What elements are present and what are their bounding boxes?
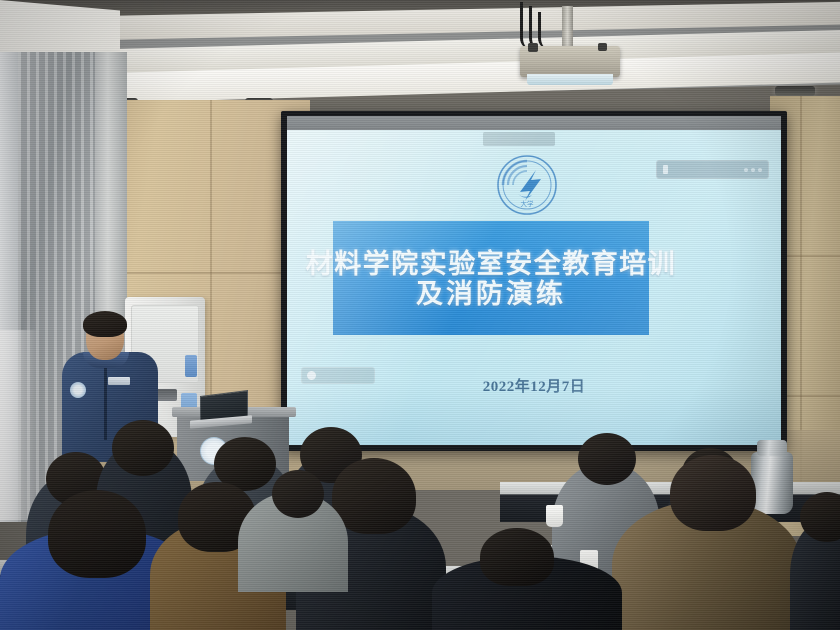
audience-head-f4 <box>272 470 324 518</box>
air-conditioner-indicator <box>185 355 197 377</box>
window-daylight-glow <box>0 330 40 520</box>
projector-cable-3 <box>538 12 570 50</box>
slide-overlay-toolbar[interactable] <box>656 160 769 179</box>
thermos-cap <box>757 440 787 456</box>
slide-overlay-bottom-chip[interactable] <box>301 367 375 384</box>
presenter-hair <box>83 311 127 337</box>
slide-overlay-top-chip[interactable] <box>483 132 555 146</box>
audience-head-f5 <box>670 455 756 531</box>
slide-title-banner: 材料学院实验室安全教育培训 及消防演练 <box>333 221 649 335</box>
audience-head-f3 <box>332 458 416 534</box>
slide-title-line-1: 材料学院实验室安全教育培训 <box>306 250 677 280</box>
audience-head-f1 <box>48 490 146 578</box>
projector-knob-left <box>528 43 538 52</box>
projection-screen: 大学 材料学院实验室安全教育培训 及消防演练 2022年12月7日 <box>287 116 781 445</box>
presentation-slide: 大学 材料学院实验室安全教育培训 及消防演练 2022年12月7日 <box>287 130 781 445</box>
toolbar-book-icon <box>663 165 668 174</box>
audience-head-f7 <box>480 528 554 586</box>
audience-head-b5 <box>578 433 636 485</box>
svg-text:大学: 大学 <box>521 199 535 208</box>
slide-bottom-fade <box>287 385 781 445</box>
recessed-downlight-far-right <box>775 86 815 96</box>
slide-title-line-2: 及消防演练 <box>416 280 566 310</box>
presenter-name-badge <box>108 377 130 385</box>
university-emblem: 大学 <box>496 154 558 216</box>
steel-thermos <box>751 452 793 514</box>
presenter-jacket-zip <box>104 368 107 440</box>
projector-lens <box>527 74 613 85</box>
photo-scene: 大学 材料学院实验室安全教育培训 及消防演练 2022年12月7日 <box>0 0 840 630</box>
overlay-record-icon <box>307 371 316 380</box>
projector-knob-right <box>598 43 607 51</box>
presenter-shoulder-patch <box>70 382 86 398</box>
paper-cup-right <box>546 505 563 527</box>
audience-head-b2 <box>112 420 174 476</box>
meeting-room: 大学 材料学院实验室安全教育培训 及消防演练 2022年12月7日 <box>0 0 840 630</box>
toolbar-more-icon[interactable] <box>744 168 762 172</box>
